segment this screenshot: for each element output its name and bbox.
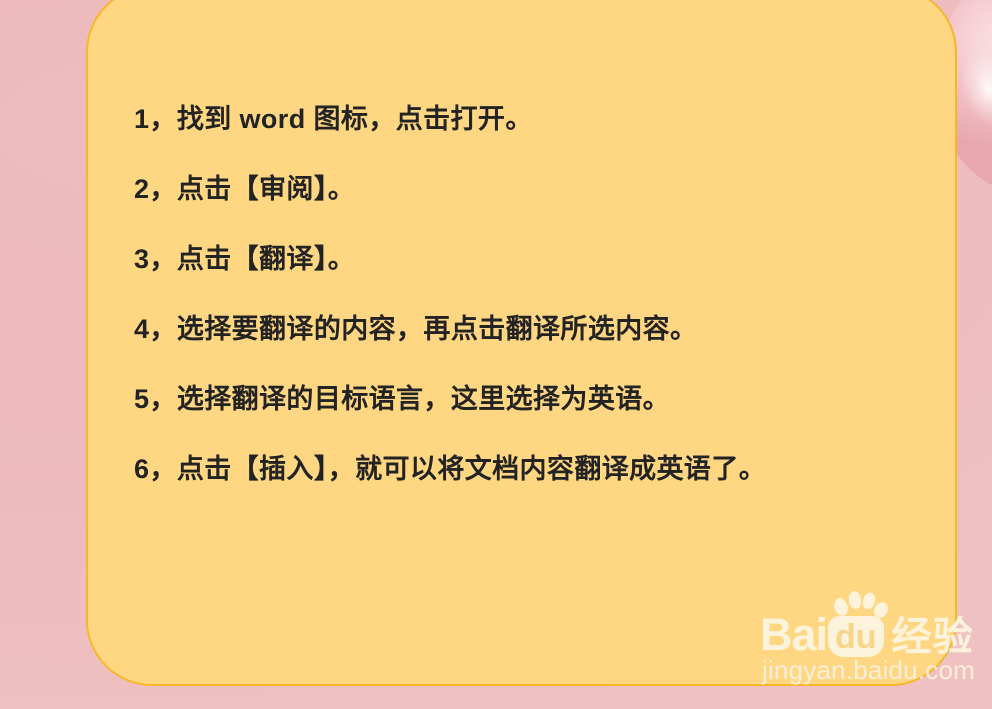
step-list: 1，找到 word 图标，点击打开。 2，点击【审阅】。 3，点击【翻译】。 4… [134, 106, 955, 483]
list-item: 2，点击【审阅】。 [134, 176, 955, 203]
screenshot-root: 1，找到 word 图标，点击打开。 2，点击【审阅】。 3，点击【翻译】。 4… [0, 0, 992, 709]
list-item: 4，选择要翻译的内容，再点击翻译所选内容。 [134, 316, 955, 343]
list-item: 1，找到 word 图标，点击打开。 [134, 106, 955, 133]
list-item: 6，点击【插入】，就可以将文档内容翻译成英语了。 [134, 456, 955, 483]
instruction-card-body: 1，找到 word 图标，点击打开。 2，点击【审阅】。 3，点击【翻译】。 4… [88, 0, 955, 684]
list-item: 5，选择翻译的目标语言，这里选择为英语。 [134, 386, 955, 413]
list-item: 3，点击【翻译】。 [134, 246, 955, 273]
instruction-card: 1，找到 word 图标，点击打开。 2，点击【审阅】。 3，点击【翻译】。 4… [86, 0, 957, 686]
